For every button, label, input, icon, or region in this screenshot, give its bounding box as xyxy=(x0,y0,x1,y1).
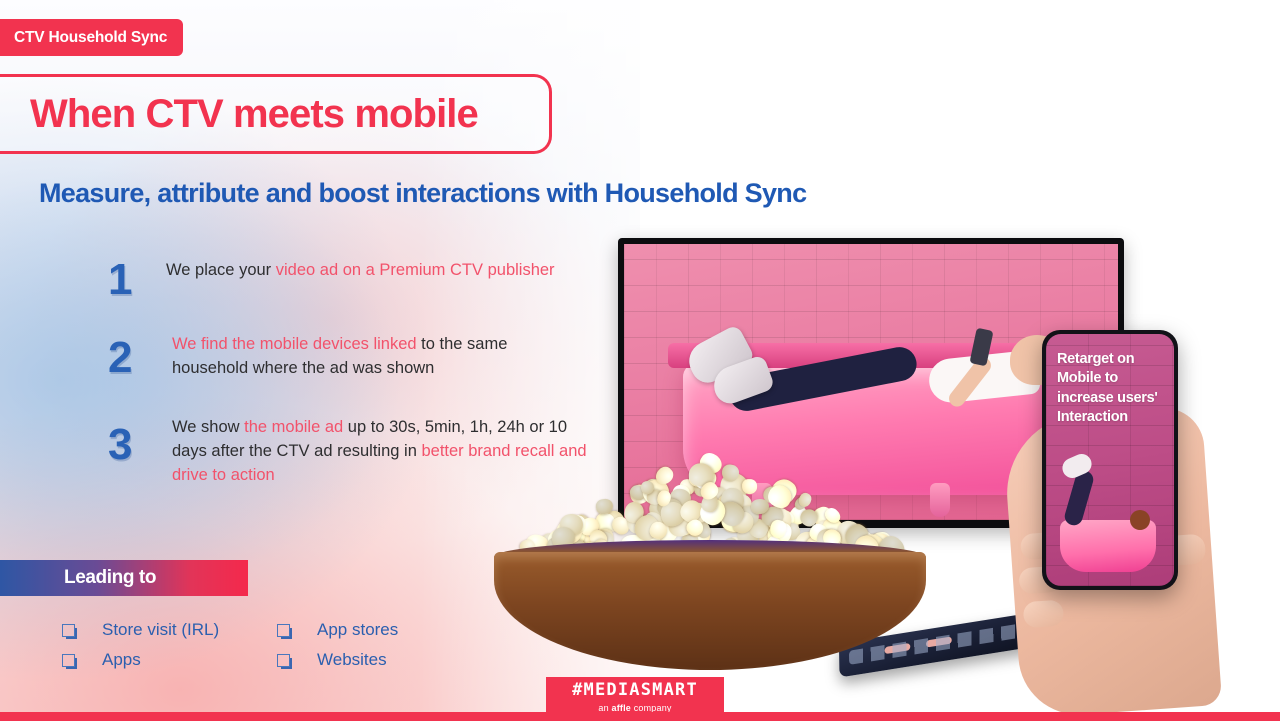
list-item[interactable]: Store visit (IRL) xyxy=(62,620,277,640)
step-text: We find the mobile devices linked to the… xyxy=(166,326,588,381)
step-number: 3 xyxy=(108,405,166,467)
logo-tagline-pre: an xyxy=(598,703,611,713)
leading-to-list: Store visit (IRL) App stores Apps Websit… xyxy=(62,620,482,670)
list-item-label: Websites xyxy=(317,650,387,670)
slide-title: When CTV meets mobile xyxy=(30,92,478,137)
checkbox-icon xyxy=(277,654,290,667)
step-text-accent: We find the mobile devices linked xyxy=(172,335,417,353)
list-item[interactable]: Apps xyxy=(62,650,277,670)
list-item[interactable]: App stores xyxy=(277,620,482,640)
person-head xyxy=(1130,510,1150,530)
section-tag-label: CTV Household Sync xyxy=(14,29,167,47)
retarget-overlay-text: Retarget on Mobile to increase users' In… xyxy=(1057,350,1168,427)
logo-tagline-post: company xyxy=(631,703,672,713)
leading-to-banner: Leading to xyxy=(0,560,248,596)
slide-title-box: When CTV meets mobile xyxy=(0,74,552,154)
step-text: We show the mobile ad up to 30s, 5min, 1… xyxy=(166,405,588,488)
popcorn-kernel xyxy=(742,479,758,495)
phone-in-hand-image: Retarget on Mobile to increase users' In… xyxy=(1012,312,1212,712)
wooden-bowl xyxy=(494,552,926,670)
step-text: We place your video ad on a Premium CTV … xyxy=(166,252,555,283)
checkbox-icon xyxy=(277,624,290,637)
logo-tagline-brand: affle xyxy=(611,703,631,713)
checkbox-icon xyxy=(62,624,75,637)
list-item-label: App stores xyxy=(317,620,398,640)
section-tag: CTV Household Sync xyxy=(0,19,183,56)
step-number: 2 xyxy=(108,326,166,380)
checkbox-icon xyxy=(62,654,75,667)
step-number: 1 xyxy=(108,252,166,302)
smartphone-screen: Retarget on Mobile to increase users' In… xyxy=(1046,334,1174,586)
logo-wordmark: #MEDIASMART xyxy=(572,682,698,699)
list-item[interactable]: Websites xyxy=(277,650,482,670)
step-text-accent: video ad on a Premium CTV publisher xyxy=(276,261,555,279)
list-item-label: Store visit (IRL) xyxy=(102,620,219,640)
steps-list: 1 We place your video ad on a Premium CT… xyxy=(108,252,588,488)
bottom-accent-bar xyxy=(0,712,1280,721)
leading-to-label: Leading to xyxy=(64,567,156,589)
list-item-label: Apps xyxy=(102,650,141,670)
step-item: 1 We place your video ad on a Premium CT… xyxy=(108,252,588,302)
step-text-plain: We show xyxy=(172,418,244,436)
step-text-accent: the mobile ad xyxy=(244,418,343,436)
mediasmart-logo: #MEDIASMART an affle company xyxy=(546,677,724,717)
step-text-plain: We place your xyxy=(166,261,276,279)
slide-canvas: CTV Household Sync When CTV meets mobile… xyxy=(0,0,1280,721)
smartphone: Retarget on Mobile to increase users' In… xyxy=(1042,330,1178,590)
step-item: 3 We show the mobile ad up to 30s, 5min,… xyxy=(108,405,588,488)
step-item: 2 We find the mobile devices linked to t… xyxy=(108,326,588,381)
slide-subtitle: Measure, attribute and boost interaction… xyxy=(39,178,806,209)
finger xyxy=(1023,600,1065,629)
